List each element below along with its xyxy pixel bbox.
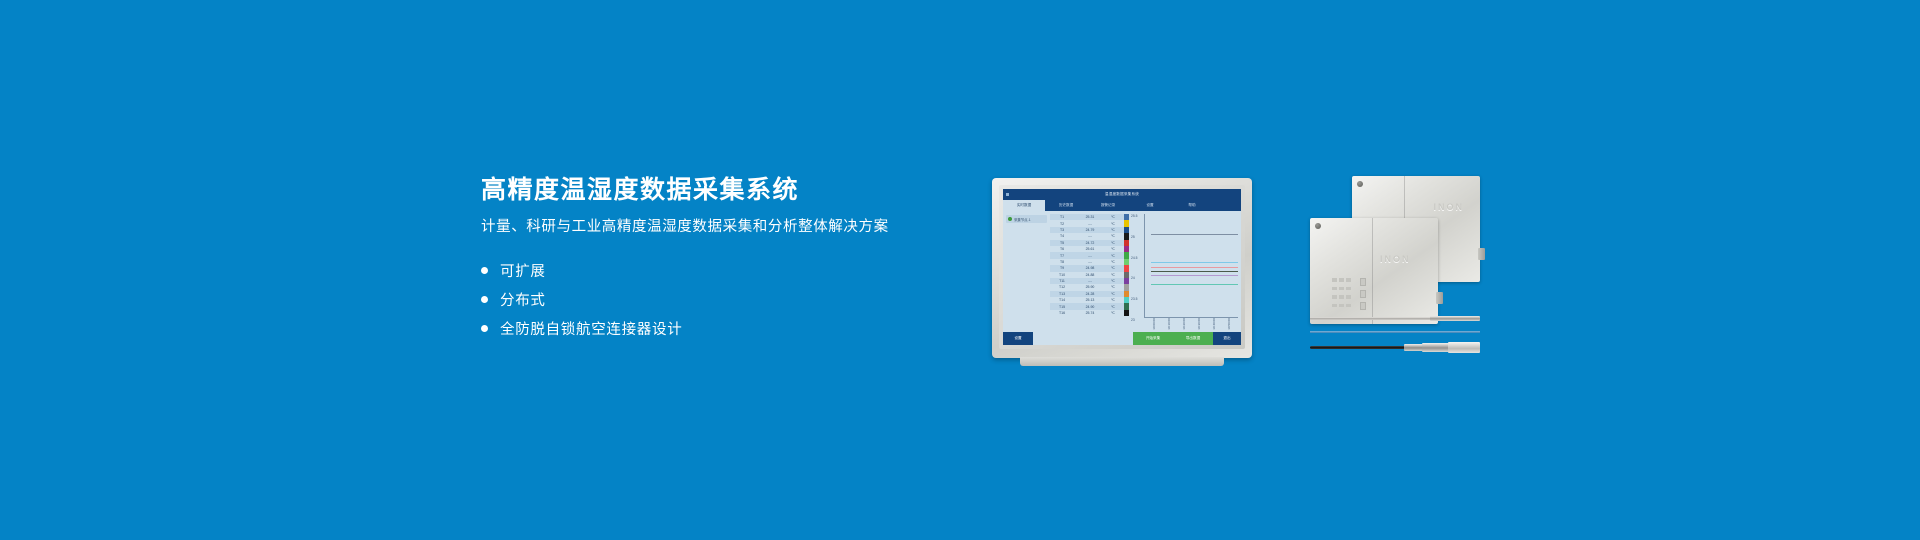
device-tree-panel: 采集节点-1 xyxy=(1003,211,1050,332)
channel-unit: ℃ xyxy=(1106,234,1120,238)
brand-label: INON xyxy=(1380,254,1411,264)
channel-value: 25.61 xyxy=(1074,247,1106,251)
keypad-icon xyxy=(1332,278,1351,310)
channel-id: T11 xyxy=(1050,279,1074,283)
channel-value: 25.74 xyxy=(1074,311,1106,315)
window-menu-icon xyxy=(1006,193,1009,196)
channel-unit: ℃ xyxy=(1106,305,1120,309)
monitor-bezel: 温湿度数据采集系统 实时数据 历史数据 报警记录 设置 帮助 xyxy=(992,178,1252,358)
channel-value: 24.88 xyxy=(1074,273,1106,277)
channel-id: T6 xyxy=(1050,247,1074,251)
cable-body xyxy=(1310,346,1406,349)
x-tick-label: 10:40:00 xyxy=(1212,318,1216,330)
channel-value: 25.31 xyxy=(1074,215,1106,219)
x-tick-label: 10:10:00 xyxy=(1167,318,1171,330)
panel-seam xyxy=(1372,218,1373,324)
tab-alarm-log[interactable]: 报警记录 xyxy=(1087,200,1129,211)
trend-line xyxy=(1151,271,1238,272)
blue-sensor-cable xyxy=(1310,330,1480,333)
channel-unit: ℃ xyxy=(1106,279,1120,283)
monitor-inner-bezel: 温湿度数据采集系统 实时数据 历史数据 报警记录 设置 帮助 xyxy=(999,185,1245,349)
channel-unit: ℃ xyxy=(1106,266,1120,270)
channel-unit: ℃ xyxy=(1106,311,1120,315)
cable-body xyxy=(1310,331,1480,333)
monitor-stand xyxy=(1020,357,1224,366)
channel-unit: ℃ xyxy=(1106,215,1120,219)
channel-id: T13 xyxy=(1050,292,1074,296)
x-tick-label: 10:00:00 xyxy=(1152,318,1156,330)
bullet-dot-icon xyxy=(481,325,488,332)
start-acquisition-button[interactable]: 开始采集 xyxy=(1133,332,1173,345)
channel-id: T4 xyxy=(1050,234,1074,238)
channel-unit: ℃ xyxy=(1106,298,1120,302)
bullet-dot-icon xyxy=(481,296,488,303)
y-tick-label: 24.5 xyxy=(1131,256,1137,260)
feature-label: 全防脱自锁航空连接器设计 xyxy=(500,318,682,339)
channel-value: --- xyxy=(1074,222,1106,226)
trend-line xyxy=(1151,262,1238,263)
port-group-icon xyxy=(1360,278,1366,310)
y-tick-label: 23.5 xyxy=(1131,297,1137,301)
channel-unit: ℃ xyxy=(1106,292,1120,296)
channel-id: T12 xyxy=(1050,285,1074,289)
tree-node-collector[interactable]: 采集节点-1 xyxy=(1006,215,1047,223)
channel-id: T1 xyxy=(1050,215,1074,219)
x-tick-label: 10:20:00 xyxy=(1182,318,1186,330)
probe-tip xyxy=(1430,316,1480,321)
chart-y-axis: 25.52524.52423.523 xyxy=(1131,214,1143,318)
channel-unit: ℃ xyxy=(1106,273,1120,277)
channel-unit: ℃ xyxy=(1106,241,1120,245)
connector-port-icon xyxy=(1436,292,1443,304)
feature-label: 分布式 xyxy=(500,289,546,310)
enclosure-front-unit: INON xyxy=(1310,218,1438,324)
software-tab-bar: 实时数据 历史数据 报警记录 设置 帮助 xyxy=(1003,200,1241,211)
aviation-connector-probe xyxy=(1310,342,1480,353)
action-bar-spacer xyxy=(1033,332,1133,345)
trend-chart: 25.52524.52423.523 10:00:0010:10:0010:20… xyxy=(1129,211,1241,332)
channel-unit: ℃ xyxy=(1106,247,1120,251)
channel-id: T5 xyxy=(1050,241,1074,245)
channel-id: T10 xyxy=(1050,273,1074,277)
feature-list: 可扩展 分布式 全防脱自锁航空连接器设计 xyxy=(481,256,951,343)
connector-port-icon xyxy=(1478,248,1485,260)
tab-settings[interactable]: 设置 xyxy=(1129,200,1171,211)
channel-id: T15 xyxy=(1050,305,1074,309)
y-tick-label: 25.5 xyxy=(1131,214,1137,218)
stainless-temperature-probe xyxy=(1310,316,1480,321)
chart-plot-area xyxy=(1144,214,1238,318)
channel-value: --- xyxy=(1074,234,1106,238)
channel-value: 24.79 xyxy=(1074,228,1106,232)
channel-value: 24.28 xyxy=(1074,292,1106,296)
tree-node-label: 采集节点-1 xyxy=(1014,217,1031,222)
channel-id: T14 xyxy=(1050,298,1074,302)
channel-unit: ℃ xyxy=(1106,285,1120,289)
monitor-screen: 温湿度数据采集系统 实时数据 历史数据 报警记录 设置 帮助 xyxy=(1003,189,1241,345)
trend-line xyxy=(1151,234,1238,235)
x-tick-label: 10:30:00 xyxy=(1197,318,1201,330)
trend-line xyxy=(1151,267,1238,268)
channel-id: T7 xyxy=(1050,254,1074,258)
tab-history-data[interactable]: 历史数据 xyxy=(1045,200,1087,211)
trend-line xyxy=(1151,284,1238,285)
channel-value: 25.13 xyxy=(1074,298,1106,302)
channel-value: 25.90 xyxy=(1074,285,1106,289)
software-title-bar: 温湿度数据采集系统 xyxy=(1003,189,1241,200)
software-action-bar: 设置 开始采集 导出数据 退出 xyxy=(1003,332,1241,345)
product-banner: 高精度温湿度数据采集系统 计量、科研与工业高精度温湿度数据采集和分析整体解决方案… xyxy=(0,0,1920,540)
screw-icon xyxy=(1315,223,1321,229)
exit-button[interactable]: 退出 xyxy=(1213,332,1241,345)
strain-relief xyxy=(1404,344,1424,351)
x-tick-label: 10:50:00 xyxy=(1227,318,1231,330)
channel-id: T3 xyxy=(1050,228,1074,232)
probe-shaft xyxy=(1310,317,1434,320)
software-title: 温湿度数据采集系统 xyxy=(1105,192,1139,197)
channel-value: --- xyxy=(1074,260,1106,264)
page-subtitle: 计量、科研与工业高精度温湿度数据采集和分析整体解决方案 xyxy=(481,218,951,237)
channel-unit: ℃ xyxy=(1106,222,1120,226)
brand-label: INON xyxy=(1434,202,1465,212)
channel-value: 24.98 xyxy=(1074,266,1106,270)
connector-head xyxy=(1448,342,1480,353)
channel-id: T8 xyxy=(1050,260,1074,264)
y-tick-label: 24 xyxy=(1131,276,1135,280)
y-tick-label: 25 xyxy=(1131,235,1135,239)
bullet-dot-icon xyxy=(481,267,488,274)
panel-monitor-image: 温湿度数据采集系统 实时数据 历史数据 报警记录 设置 帮助 xyxy=(992,178,1252,358)
status-online-icon xyxy=(1008,217,1012,221)
channel-unit: ℃ xyxy=(1106,254,1120,258)
feature-label: 可扩展 xyxy=(500,260,546,281)
chart-x-axis: 10:00:0010:10:0010:20:0010:30:0010:40:00… xyxy=(1144,318,1238,330)
channel-unit: ℃ xyxy=(1106,260,1120,264)
sensor-probes xyxy=(1310,312,1480,362)
trend-line xyxy=(1151,275,1238,276)
connector-barrel xyxy=(1422,343,1450,352)
channel-id: T9 xyxy=(1050,266,1074,270)
tab-help[interactable]: 帮助 xyxy=(1171,200,1213,211)
channel-value: 24.90 xyxy=(1074,305,1106,309)
front-panel-controls xyxy=(1332,278,1366,310)
channel-unit: ℃ xyxy=(1106,228,1120,232)
software-body: 采集节点-1 T125.31℃T2---℃T324.79℃T4---℃T524.… xyxy=(1003,211,1241,332)
channel-value: 24.72 xyxy=(1074,241,1106,245)
channel-value: --- xyxy=(1074,279,1106,283)
list-item: 分布式 xyxy=(481,285,951,314)
export-data-button[interactable]: 导出数据 xyxy=(1173,332,1213,345)
y-tick-label: 23 xyxy=(1131,318,1135,322)
list-item: 全防脱自锁航空连接器设计 xyxy=(481,314,951,343)
channel-id: T2 xyxy=(1050,222,1074,226)
channel-table: T125.31℃T2---℃T324.79℃T4---℃T524.72℃T625… xyxy=(1050,211,1124,332)
banner-copy: 高精度温湿度数据采集系统 计量、科研与工业高精度温湿度数据采集和分析整体解决方案… xyxy=(481,176,951,343)
tab-bar-filler xyxy=(1213,200,1241,211)
page-title: 高精度温湿度数据采集系统 xyxy=(481,176,951,205)
table-row[interactable]: T1625.74℃ xyxy=(1050,310,1124,316)
list-item: 可扩展 xyxy=(481,256,951,285)
screw-icon xyxy=(1357,181,1363,187)
channel-id: T16 xyxy=(1050,311,1074,315)
settings-button[interactable]: 设置 xyxy=(1003,332,1033,345)
channel-value: --- xyxy=(1074,254,1106,258)
tab-realtime-data[interactable]: 实时数据 xyxy=(1003,200,1045,211)
